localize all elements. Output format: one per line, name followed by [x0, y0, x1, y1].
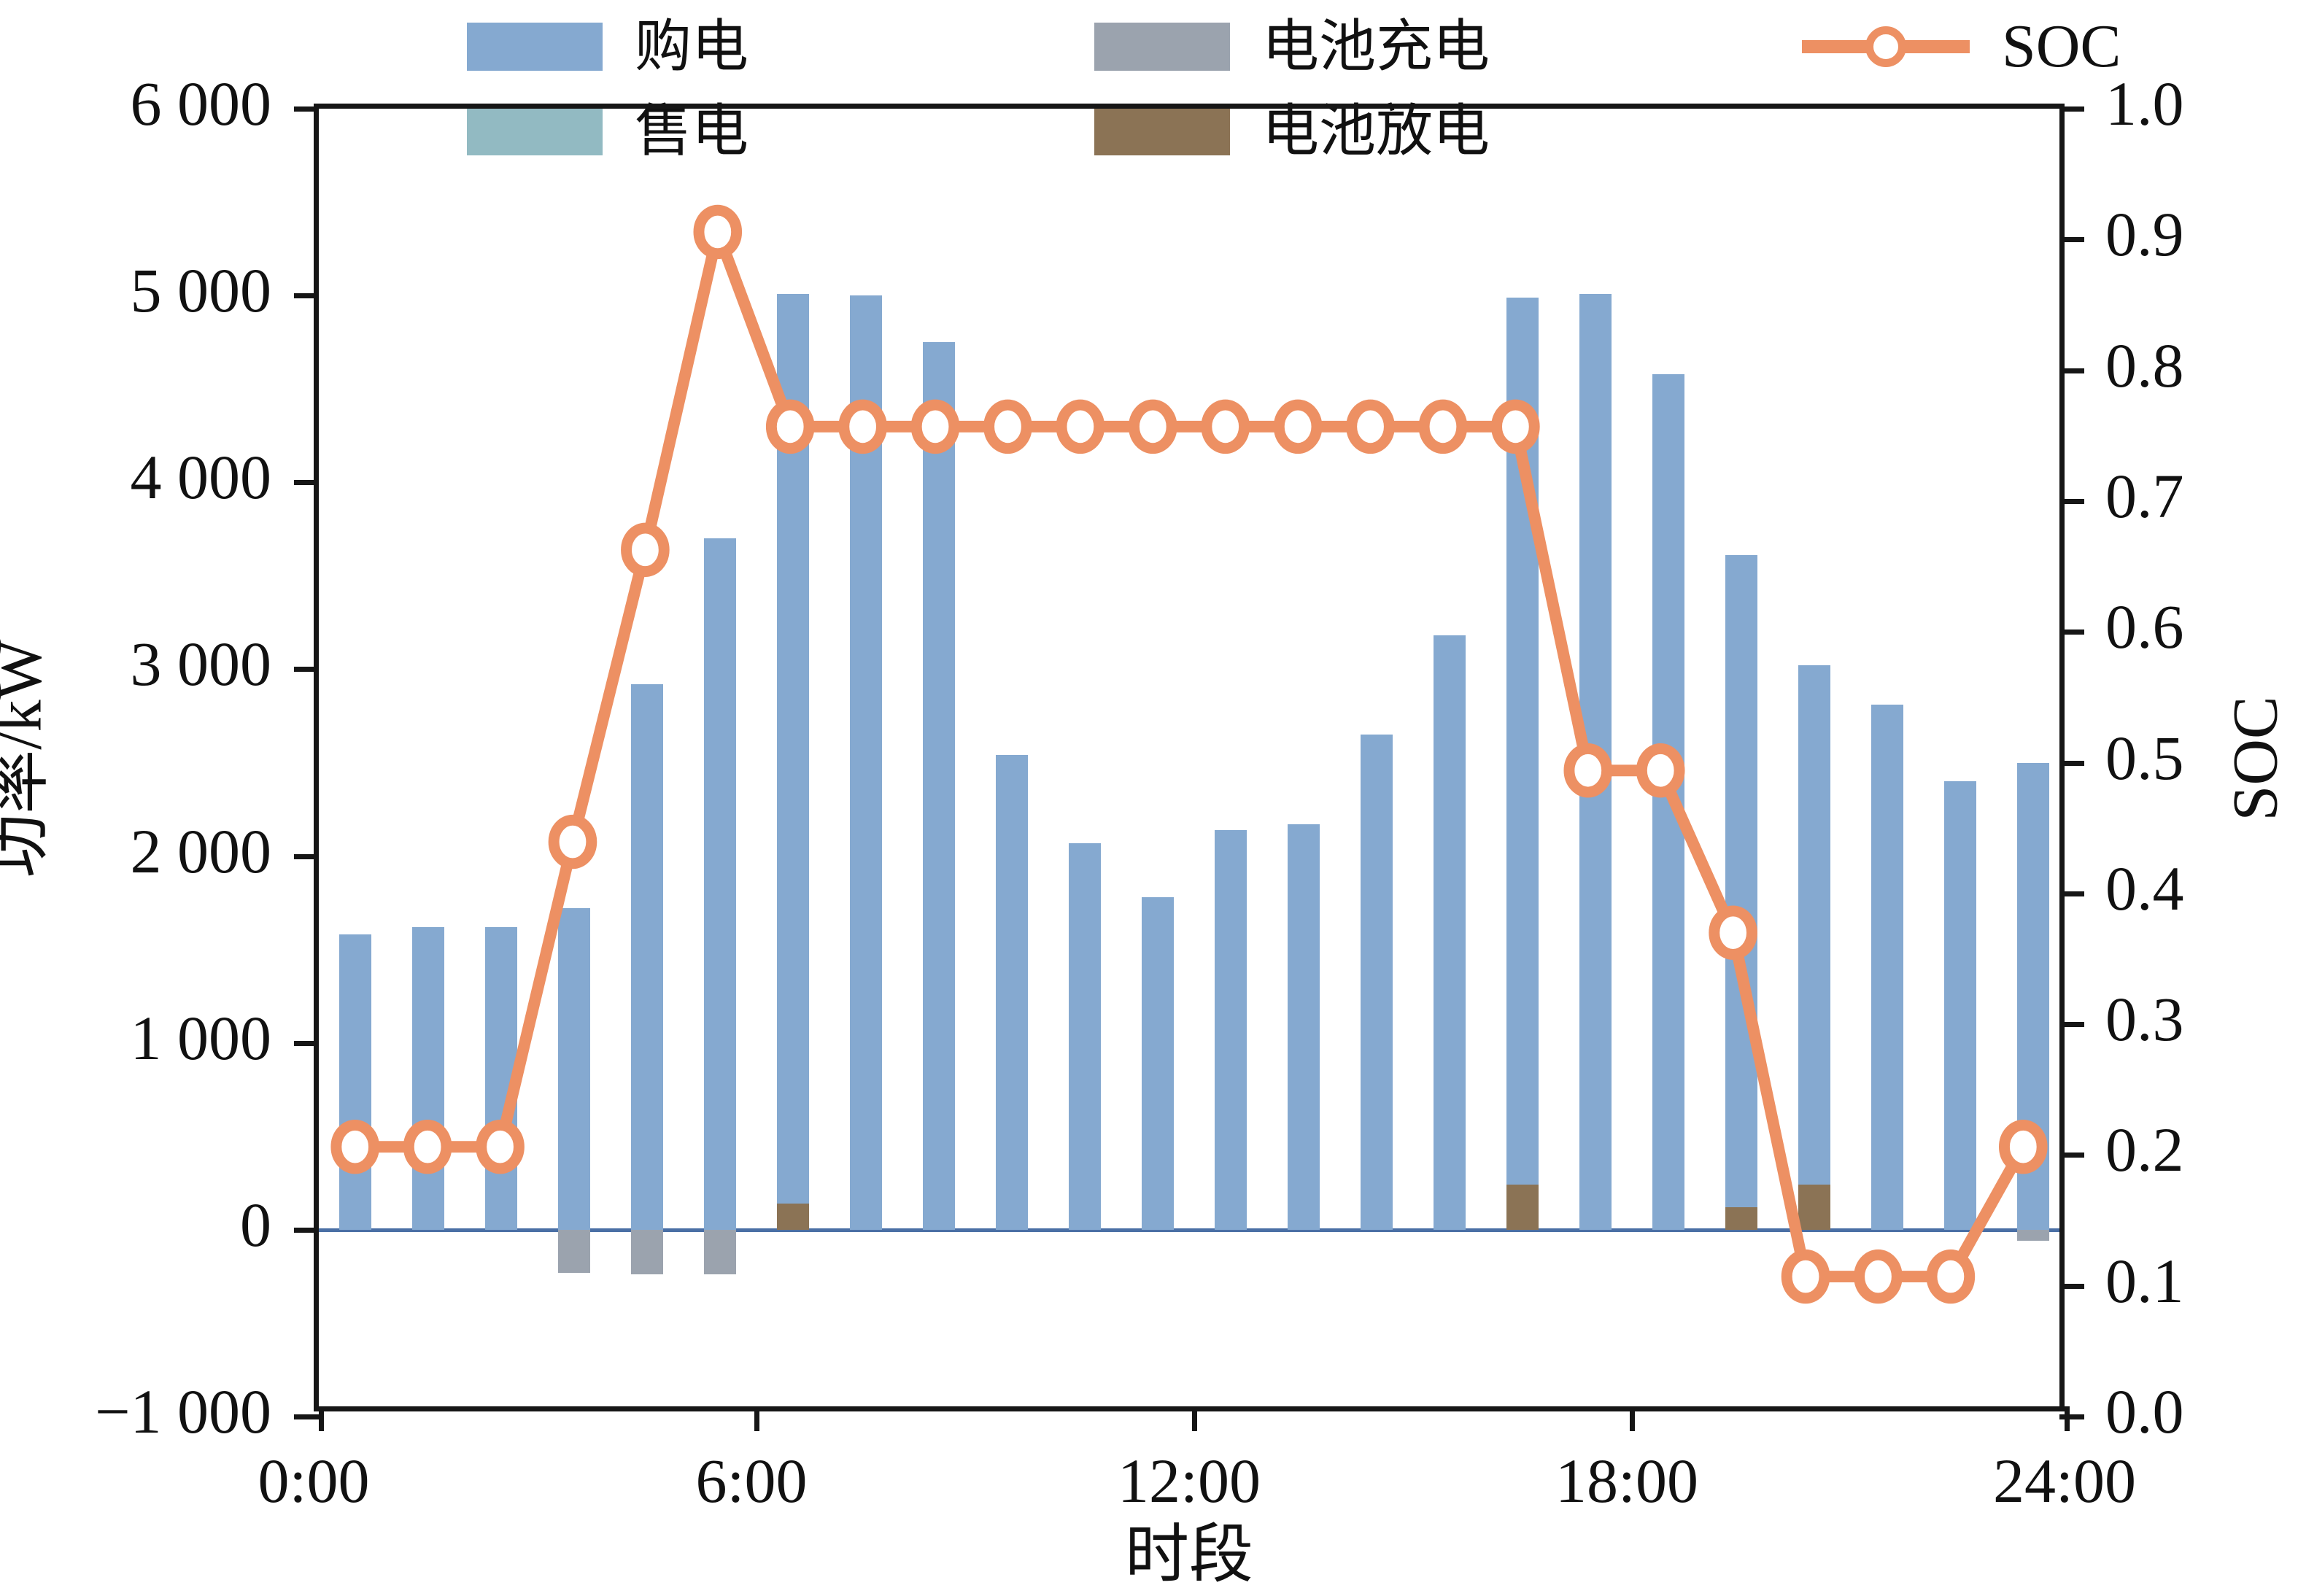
y-right-tick — [2059, 630, 2084, 635]
y-right-tick-label: 1.0 — [2105, 72, 2184, 135]
y-right-tick — [2059, 1153, 2084, 1158]
y-left-tick-label: 5 000 — [0, 259, 271, 322]
legend-label-battery-charge: 电池充电 — [1262, 18, 1490, 75]
x-tick-label: 6:00 — [696, 1449, 808, 1512]
soc-marker — [1279, 405, 1317, 449]
x-tick — [754, 1406, 759, 1431]
y-left-tick — [294, 1041, 319, 1046]
plot-inner — [319, 109, 2059, 1406]
y-left-tick-label: 2 000 — [0, 820, 271, 883]
y-right-tick — [2059, 891, 2084, 896]
x-tick — [319, 1406, 324, 1431]
soc-marker — [2004, 1125, 2042, 1169]
soc-marker — [771, 405, 809, 449]
soc-marker — [1860, 1255, 1897, 1298]
soc-marker — [1932, 1255, 1970, 1298]
y-left-tick — [294, 293, 319, 298]
y-right-tick — [2059, 237, 2084, 242]
y-right-tick-label: 0.8 — [2105, 334, 2184, 397]
y-left-tick-label: 6 000 — [0, 72, 271, 135]
y-right-tick — [2059, 368, 2084, 373]
x-tick — [1630, 1406, 1635, 1431]
x-tick-label: 24:00 — [1993, 1449, 2136, 1512]
chart-figure: 购电 电池充电 SOC 售电 电池放电 功率/kW SOC 时段 — [0, 0, 2298, 1596]
legend-item-purchase[interactable]: 购电 — [467, 7, 748, 86]
soc-marker — [1424, 405, 1462, 449]
soc-line-layer — [319, 109, 2059, 1406]
soc-marker — [1207, 405, 1245, 449]
legend-swatch-purchase — [467, 23, 603, 71]
y-right-tick-label: 0.4 — [2105, 857, 2184, 920]
soc-marker — [844, 405, 882, 449]
y-axis-left-title: 功率/kW — [0, 569, 60, 948]
soc-marker — [699, 210, 737, 254]
y-right-tick — [2059, 1022, 2084, 1027]
plot-area — [314, 104, 2065, 1411]
y-left-tick — [294, 480, 319, 485]
soc-marker — [1714, 911, 1752, 955]
x-axis-title: 时段 — [1125, 1503, 1253, 1595]
soc-marker — [1061, 405, 1099, 449]
y-right-tick-label: 0.2 — [2105, 1118, 2184, 1181]
y-right-tick-label: 0.1 — [2105, 1250, 2184, 1312]
legend-swatch-battery-charge — [1094, 23, 1230, 71]
soc-marker — [916, 405, 954, 449]
x-tick-label: 0:00 — [258, 1449, 370, 1512]
y-right-tick-label: 0.5 — [2105, 727, 2184, 789]
y-right-tick — [2059, 761, 2084, 766]
y-left-tick-label: 1 000 — [0, 1007, 271, 1069]
x-tick-label: 18:00 — [1555, 1449, 1698, 1512]
legend-label-soc: SOC — [2002, 16, 2121, 77]
y-right-tick-label: 0.6 — [2105, 595, 2184, 658]
legend-item-battery-charge[interactable]: 电池充电 — [1094, 7, 1490, 86]
soc-marker — [1497, 405, 1535, 449]
y-left-tick-label: 0 — [0, 1193, 271, 1256]
y-left-tick — [294, 667, 319, 672]
y-right-tick-label: 0.0 — [2105, 1380, 2184, 1443]
y-left-tick — [294, 854, 319, 859]
y-right-tick — [2059, 106, 2084, 112]
soc-polyline — [355, 232, 2024, 1277]
y-axis-right-title: SOC — [2219, 635, 2293, 883]
y-left-tick-label: −1 000 — [0, 1380, 271, 1443]
legend-item-soc[interactable]: SOC — [1802, 7, 2121, 86]
x-tick — [2065, 1406, 2070, 1431]
soc-marker — [336, 1125, 374, 1169]
legend-label-purchase: 购电 — [635, 18, 748, 75]
soc-marker — [554, 820, 592, 864]
soc-marker — [989, 405, 1027, 449]
y-left-tick-label: 4 000 — [0, 446, 271, 508]
soc-marker — [1787, 1255, 1825, 1298]
y-right-tick-label: 0.3 — [2105, 988, 2184, 1050]
y-right-tick-label: 0.7 — [2105, 465, 2184, 527]
soc-marker — [481, 1125, 519, 1169]
y-right-tick — [2059, 1414, 2084, 1419]
x-tick-label: 12:00 — [1118, 1449, 1261, 1512]
x-tick — [1192, 1406, 1197, 1431]
y-left-tick — [294, 1228, 319, 1233]
legend-marker-soc — [1802, 23, 1970, 71]
soc-marker — [627, 528, 665, 572]
soc-marker — [1134, 405, 1172, 449]
y-left-tick — [294, 1414, 319, 1419]
y-left-tick — [294, 106, 319, 112]
soc-marker — [1641, 748, 1679, 792]
y-right-tick — [2059, 1284, 2084, 1289]
soc-marker — [1569, 748, 1607, 792]
soc-marker — [409, 1125, 446, 1169]
soc-marker — [1352, 405, 1390, 449]
y-right-tick-label: 0.9 — [2105, 203, 2184, 266]
y-right-tick — [2059, 499, 2084, 504]
y-left-tick-label: 3 000 — [0, 632, 271, 695]
